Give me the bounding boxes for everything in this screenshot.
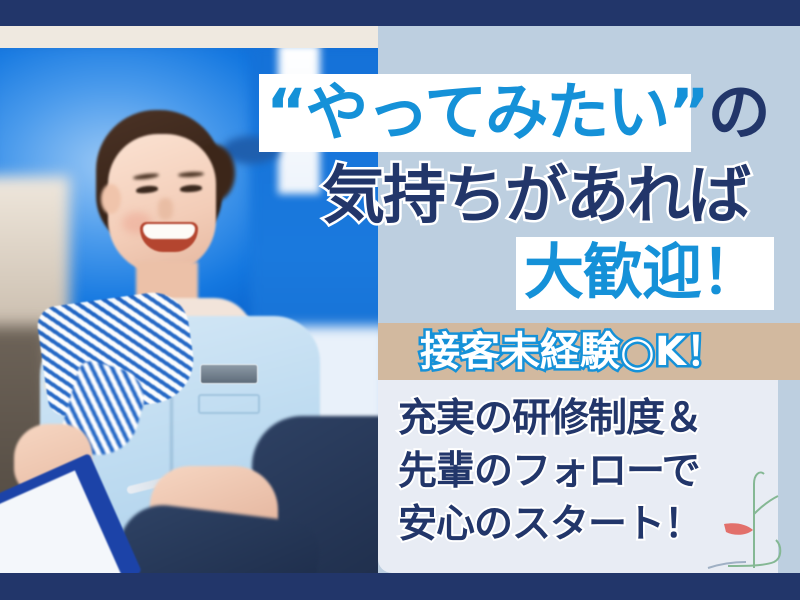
headline-line1-suffix: の (708, 76, 769, 149)
tan-banner-label: 接客未経験○K！ (420, 329, 726, 375)
photo-teeth (143, 224, 195, 239)
photo-ear (101, 184, 121, 214)
headline-line1-quoted: “やってみたい” (266, 76, 708, 149)
headline-line3: 大歓迎！ (524, 236, 760, 310)
bottom-navy-bar (0, 573, 800, 600)
top-navy-bar (0, 0, 800, 26)
recruitment-banner: “やってみたい”の 気持ちがあれば 大歓迎！ 接客未経験○K！ 充実の研修制度＆… (0, 0, 800, 600)
plant-icon (706, 462, 792, 570)
photo-uniform-pocket (198, 394, 260, 414)
subtext-line-1: 充実の研修制度＆ (398, 392, 778, 445)
headline-line1: “やってみたい”の (266, 72, 769, 154)
photo-nose (158, 198, 173, 220)
headline-line2: 気持ちがあれば (322, 158, 749, 234)
cream-strip (0, 26, 378, 48)
photo-name-badge (200, 364, 258, 384)
